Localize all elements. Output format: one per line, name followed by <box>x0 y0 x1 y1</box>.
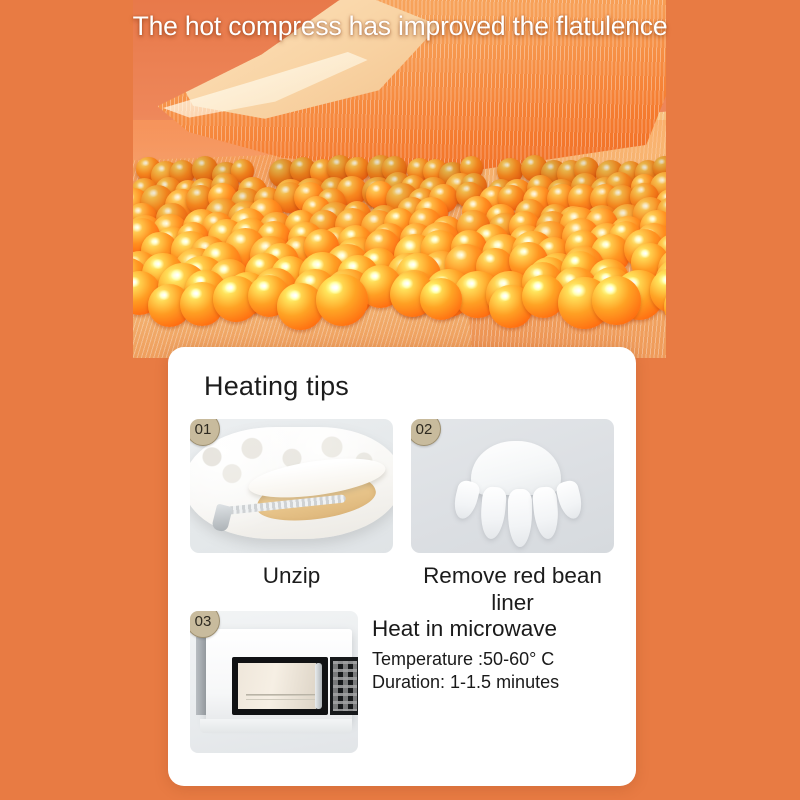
step-01-caption: Unzip <box>190 562 393 589</box>
bead <box>420 278 462 320</box>
microwave-control-panel <box>330 657 358 715</box>
page-title: The hot compress has improved the flatul… <box>133 11 668 42</box>
microwave-window <box>238 663 316 709</box>
orange-bead-field <box>133 155 666 330</box>
heating-tips-card: Heating tips 01 Unzip <box>168 347 636 786</box>
step-02: 02 Remove red bean liner <box>411 419 614 617</box>
step-02-thumbnail[interactable]: 02 <box>411 419 614 553</box>
hero-product-photo <box>133 0 666 358</box>
microwave-keypad <box>333 661 357 711</box>
step-02-caption: Remove red bean liner <box>411 562 614 617</box>
card-title: Heating tips <box>204 371 349 402</box>
microwave-base-shelf <box>200 719 352 733</box>
bead <box>592 276 641 325</box>
step-03: 03 Heat in microwave Temperature :50-60°… <box>190 611 614 753</box>
microwave-rack <box>246 694 320 703</box>
product-infographic: The hot compress has improved the flatul… <box>0 0 800 800</box>
microwave-door <box>232 657 328 715</box>
step-03-text: Heat in microwave Temperature :50-60° C … <box>372 611 614 694</box>
step-03-caption: Heat in microwave <box>372 615 614 642</box>
step-01-thumbnail[interactable]: 01 <box>190 419 393 553</box>
step-01: 01 Unzip <box>190 419 393 617</box>
microwave-handle <box>315 663 322 709</box>
steps-row: 01 Unzip 02 Remove red bean liner <box>190 419 614 617</box>
bead <box>316 274 368 326</box>
step-03-duration: Duration: 1-1.5 minutes <box>372 671 614 694</box>
microwave-icon <box>206 629 352 721</box>
step-03-temperature: Temperature :50-60° C <box>372 648 614 671</box>
headline-bar: The hot compress has improved the flatul… <box>0 0 800 52</box>
step-03-thumbnail[interactable]: 03 <box>190 611 358 753</box>
